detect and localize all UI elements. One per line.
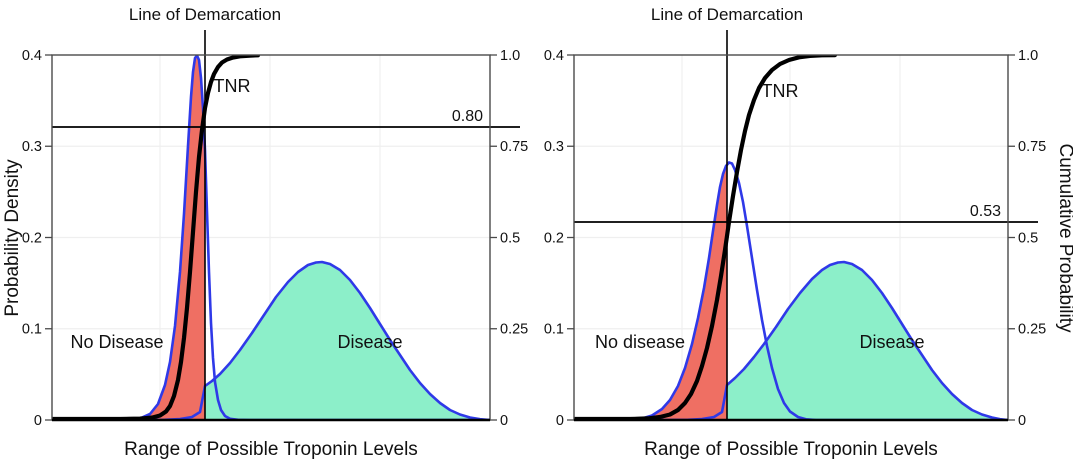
ytick-right-2: 0.5	[1018, 231, 1038, 247]
disease-label-right: Disease	[859, 332, 924, 352]
xaxis-title-right: Range of Possible Troponin Levels	[644, 439, 938, 460]
no-disease-label-right: No disease	[595, 332, 685, 352]
ytick-left-4: 0.4	[544, 48, 564, 64]
ytick-left-0: 0	[556, 413, 564, 429]
ytick-right-1: 0.25	[1018, 322, 1046, 338]
xaxis-title-left: Range of Possible Troponin Levels	[124, 439, 418, 460]
ytick-right-4: 1.0	[500, 48, 520, 64]
demarcation-label-right: Line of Demarcation	[651, 5, 803, 24]
ytick-right-4: 1.0	[1018, 48, 1038, 64]
ytick-left-0: 0	[34, 413, 42, 429]
right-chart-panel: 0 0.1 0.2 0.3 0.4 0 0.25 0.5 0.75 1.0 Li…	[530, 0, 1073, 463]
demarcation-label-left: Line of Demarcation	[129, 5, 281, 24]
threshold-value-right: 0.53	[970, 203, 1001, 220]
troponin-distribution-figure: 0 0.1 0.2 0.3 0.4 0 0.25 0.5 0.75 1.0 Li…	[0, 0, 1073, 463]
tnr-label-left: TNR	[214, 76, 251, 96]
ytick-left-2: 0.2	[22, 231, 42, 247]
y-ticks-left-right-panel	[567, 55, 574, 420]
ytick-right-0: 0	[500, 413, 508, 429]
ytick-left-1: 0.1	[22, 322, 42, 338]
ytick-left-2: 0.2	[544, 231, 564, 247]
disease-label-left: Disease	[337, 332, 402, 352]
ytick-right-3: 0.75	[500, 139, 528, 155]
threshold-value-left: 0.80	[452, 108, 483, 125]
ytick-right-0: 0	[1018, 413, 1026, 429]
no-disease-label-left: No Disease	[70, 332, 163, 352]
ytick-right-1: 0.25	[500, 322, 528, 338]
right-chart-svg: 0 0.1 0.2 0.3 0.4 0 0.25 0.5 0.75 1.0 Li…	[530, 0, 1073, 463]
left-chart-svg: 0 0.1 0.2 0.3 0.4 0 0.25 0.5 0.75 1.0 Li…	[0, 0, 530, 463]
y-ticks-right	[1008, 55, 1015, 420]
filled-areas-right	[574, 164, 1008, 420]
ytick-left-3: 0.3	[544, 139, 564, 155]
ytick-left-3: 0.3	[22, 139, 42, 155]
ytick-left-1: 0.1	[544, 322, 564, 338]
yaxis-title-right: Cumulative Probability	[1055, 143, 1073, 333]
tnr-label-right: TNR	[762, 81, 799, 101]
y-ticks-right-left-panel	[490, 55, 497, 420]
ytick-right-2: 0.5	[500, 231, 520, 247]
yaxis-title-left: Probability Density	[2, 159, 23, 317]
ytick-left-4: 0.4	[22, 48, 42, 64]
ytick-right-3: 0.75	[1018, 139, 1046, 155]
y-ticks-left	[45, 55, 52, 420]
left-chart-panel: 0 0.1 0.2 0.3 0.4 0 0.25 0.5 0.75 1.0 Li…	[0, 0, 530, 463]
